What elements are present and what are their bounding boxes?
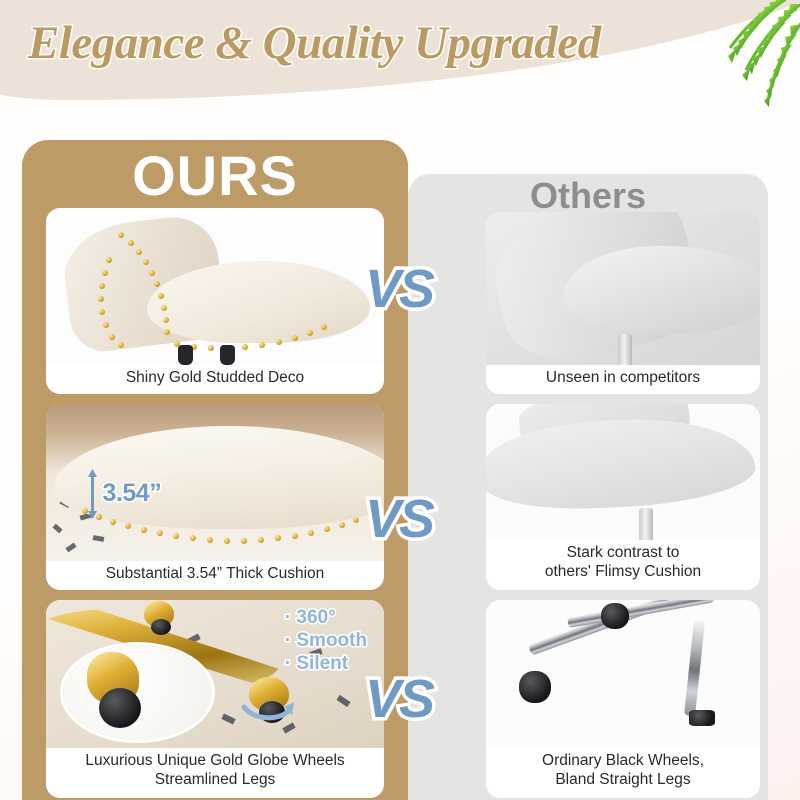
others-column-title: Others xyxy=(408,178,768,214)
wheel-black-ball-2 xyxy=(151,619,171,635)
page-title: Elegance & Quality Upgraded xyxy=(28,16,728,70)
black-caster-chrome-legs-photo xyxy=(486,600,760,748)
others-feature-caption-2: Stark contrast to others' Flimsy Cushion xyxy=(486,540,760,590)
ours-column-title: OURS xyxy=(22,148,408,204)
others-feature-card-1: Unseen in competitors xyxy=(486,212,760,394)
others-feature-photo-3 xyxy=(486,600,760,748)
wheel-bullet-1: · 360° xyxy=(285,606,367,629)
grey-chair-stem-2 xyxy=(639,508,653,541)
ours-feature-card-1: Shiny Gold Studded Deco xyxy=(46,208,384,394)
flimsy-cushion-closeup-photo xyxy=(486,404,760,540)
ours-feature-caption-3: Luxurious Unique Gold Globe Wheels Strea… xyxy=(46,748,384,798)
double-arrow-icon xyxy=(87,467,98,521)
ours-feature-photo-1 xyxy=(46,208,384,365)
ours-caption-3-line2: Streamlined Legs xyxy=(155,771,276,788)
others-feature-photo-2 xyxy=(486,404,760,540)
wheel-feature-bullets: · 360° · Smooth · Silent xyxy=(285,606,367,676)
others-caption-3-line2: Bland Straight Legs xyxy=(555,771,690,788)
others-feature-card-2: Stark contrast to others' Flimsy Cushion xyxy=(486,404,760,590)
grey-chair-plain-photo xyxy=(486,212,760,365)
rotation-arrow-icon xyxy=(240,695,296,725)
others-feature-card-3: Ordinary Black Wheels, Bland Straight Le… xyxy=(486,600,760,798)
gold-globe-wheel-closeup-photo: · 360° · Smooth · Silent xyxy=(46,600,384,748)
wheel-zoom-inset xyxy=(63,645,212,740)
ours-feature-card-2: 3.54” Substantial 3.54” Thick Cushion xyxy=(46,404,384,590)
others-caption-3-line1: Ordinary Black Wheels, xyxy=(542,752,704,769)
vs-badge-1: VS xyxy=(365,262,433,316)
others-feature-caption-1: Unseen in competitors xyxy=(486,365,760,394)
grey-chair-stem xyxy=(618,334,632,365)
ours-feature-photo-3: · 360° · Smooth · Silent xyxy=(46,600,384,748)
thick-cushion-closeup-photo: 3.54” xyxy=(46,404,384,561)
others-caption-2-line2: others' Flimsy Cushion xyxy=(545,563,701,580)
wheel-bullet-2: · Smooth xyxy=(285,629,367,652)
ours-caption-3-line1: Luxurious Unique Gold Globe Wheels xyxy=(85,752,344,769)
others-feature-caption-3: Ordinary Black Wheels, Bland Straight Le… xyxy=(486,748,760,798)
ours-feature-photo-2: 3.54” xyxy=(46,404,384,561)
cream-velvet-chair-gold-studs-photo xyxy=(46,208,384,365)
ours-feature-card-3: · 360° · Smooth · Silent Luxurious Uniqu… xyxy=(46,600,384,798)
measurement-value: 3.54” xyxy=(103,479,162,508)
others-caption-2-line1: Stark contrast to xyxy=(567,544,680,561)
ours-feature-caption-2: Substantial 3.54” Thick Cushion xyxy=(46,561,384,590)
others-feature-photo-1 xyxy=(486,212,760,365)
vs-badge-2: VS xyxy=(365,492,433,546)
wheel-bullet-3: · Silent xyxy=(285,652,367,675)
black-caster-wheel-2 xyxy=(601,603,629,629)
chair-base-legs xyxy=(174,340,275,365)
ours-feature-caption-1: Shiny Gold Studded Deco xyxy=(46,365,384,394)
vs-badge-3: VS xyxy=(365,672,433,726)
black-caster-wheel-1 xyxy=(519,671,551,703)
chrome-leg-bar-3 xyxy=(684,620,705,716)
inset-black-ball xyxy=(99,688,141,728)
grey-chair-seat-shape xyxy=(563,246,760,335)
cushion-thickness-annotation: 3.54” xyxy=(87,467,162,521)
black-caster-foot xyxy=(689,710,715,726)
comparison-infographic: Elegance & Quality Upgraded xyxy=(0,0,800,800)
palm-frond-icon xyxy=(676,0,800,126)
